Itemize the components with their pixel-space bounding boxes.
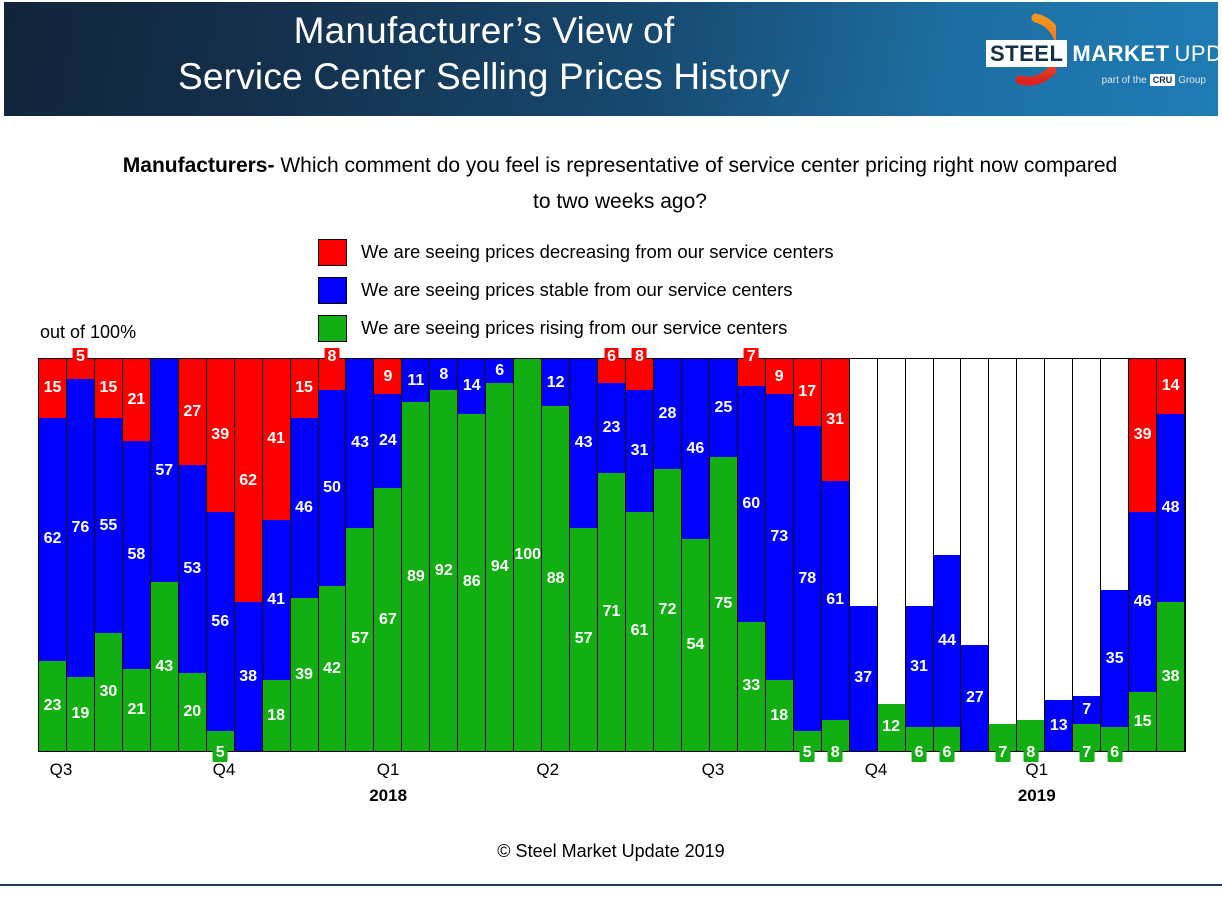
bar-segment-decreasing: 21 [123,359,150,441]
x-axis-quarter-label: Q4 [189,760,259,780]
bar-column: 156223 [38,359,67,751]
bar-segment-value: 57 [575,631,593,647]
bar-column: 694 [485,359,514,751]
bar-segment-rising: 54 [682,539,709,751]
bar-segment-rising: 6 [934,727,961,751]
legend-item-rising: We are seeing prices rising from our ser… [318,309,1078,347]
bar-segment-rising: 20 [179,673,206,751]
bar-segment-value: 7 [995,744,1010,762]
bar-segment-value: 8 [1023,744,1038,762]
bar-segment-decreasing: 6 [598,359,625,383]
bar-segment-value: 6 [1107,744,1122,762]
bar-segment-decreasing: 15 [291,359,318,418]
bar-segment-rising: 42 [319,586,346,751]
bar-segment-value: 41 [267,431,285,447]
logo-sub-prefix: part of the [1102,75,1147,86]
bar-segment-value: 46 [687,441,705,457]
bar-segment-rising: 88 [542,406,569,751]
bar-segment-value: 43 [351,435,369,451]
legend-item-decreasing: We are seeing prices decreasing from our… [318,233,1078,271]
bar-segment-decreasing: 39 [1129,359,1156,512]
bar-segment-value: 55 [99,518,117,534]
bar-segment-rising: 21 [123,669,150,751]
bar-segment-value: 12 [547,375,565,391]
bar-segment-stable: 53 [179,465,206,673]
bar-segment-value: 41 [267,592,285,608]
copyright-text: © Steel Market Update 2019 [0,841,1222,862]
logo-sub-suffix: Group [1178,75,1206,86]
bar-segment-value: 19 [72,706,90,722]
bar-column: 57619 [66,359,95,751]
bar-segment-value: 8 [828,744,843,762]
bar-segment-decreasing: 15 [39,359,66,418]
bar-segment-decreasing: 17 [794,359,821,426]
y-axis-note: out of 100% [40,322,136,343]
bar-segment-value: 6 [912,744,927,762]
bar-segment-value: 50 [323,480,341,496]
bar-column: 4654 [681,359,710,751]
bar-segment-value: 5 [800,744,815,762]
bar-segment-value: 8 [436,366,451,384]
bar-segment-value: 39 [1134,427,1152,443]
bar-segment-rising: 6 [906,727,933,751]
bar-column: 8 [1016,359,1045,751]
bar-segment-value: 48 [1162,500,1180,516]
bar-segment-rising: 7 [989,724,1016,751]
bar-segment-value: 18 [267,708,285,724]
logo-word-steel: STEEL [986,40,1067,67]
bar-segment-value: 38 [1162,669,1180,685]
bar-segment-value: 62 [44,531,62,547]
bar-segment-value: 31 [826,412,844,428]
bar-segment-value: 72 [659,602,677,618]
bar-segment-value: 7 [744,348,759,366]
bar-segment-value: 31 [631,443,649,459]
bar-segment-value: 94 [491,559,509,575]
bar-segment-value: 6 [492,362,507,380]
survey-question: Manufacturers- Which comment do you feel… [120,148,1120,220]
page-title: Manufacturer’s View of Service Center Se… [4,8,964,100]
bar-column: 83161 [625,359,654,751]
logo-subtitle: part of theCRUGroup [1102,74,1206,88]
bar-column: 394615 [1128,359,1157,751]
bar-column: 275320 [178,359,207,751]
bar-segment-stable: 73 [766,394,793,680]
bar-segment-decreasing: 8 [319,359,346,390]
bar-segment-rising: 30 [95,633,122,751]
bar-segment-value: 6 [604,348,619,366]
bar-segment-stable: 27 [961,645,988,751]
bar-column: 6238 [234,359,263,751]
bar-segment-stable: 38 [235,602,262,751]
cru-badge: CRU [1150,74,1176,86]
bar-segment-value: 23 [603,420,621,436]
bar-segment-value: 92 [435,563,453,579]
legend-item-stable: We are seeing prices stable from our ser… [318,271,1078,309]
logo-word-update: UPDATE [1170,41,1218,67]
bar-segment-rising: 57 [346,528,373,751]
bar-segment-decreasing: 5 [67,359,94,379]
bar-segment-stable: 57 [151,359,178,582]
bar-segment-value: 37 [854,670,872,686]
bar-segment-stable: 76 [67,379,94,677]
logo-word-market: MARKET [1067,41,1169,67]
x-axis-year-label: 2018 [353,786,423,806]
bar-segment-value: 13 [1050,718,1068,734]
bar-segment-rising: 39 [291,598,318,751]
bar-segment-value: 5 [73,348,88,366]
bar-segment-rising: 75 [710,457,737,751]
bar-column: 7 [988,359,1017,751]
question-lead: Manufacturers- [123,154,275,177]
bar-segment-stable: 6 [486,359,513,383]
legend-label-stable: We are seeing prices stable from our ser… [347,279,793,301]
logo-wordmark: STEELMARKETUPDATE [986,40,1210,70]
bar-segment-value: 9 [775,369,784,385]
x-axis-quarter-label: Q2 [513,760,583,780]
bar-column: 144838 [1156,359,1185,751]
bar-segment-rising: 67 [374,488,401,751]
bar-segment-value: 61 [826,592,844,608]
bar-segment-value: 100 [514,547,541,563]
bar-column: 446 [933,359,962,751]
bar-segment-value: 88 [547,571,565,587]
x-axis-year-label: 2019 [1002,786,1072,806]
bar-column: 37 [849,359,878,751]
bar-segment-stable: 31 [906,606,933,728]
bar-segment-stable: 8 [430,359,457,390]
bar-segment-value: 31 [910,659,928,675]
bar-segment-stable: 12 [542,359,569,406]
bar-segment-decreasing: 27 [179,359,206,465]
legend-swatch-rising [318,315,347,342]
bar-column: 316 [905,359,934,751]
bar-segment-value: 61 [631,623,649,639]
page-title-line2: Service Center Selling Prices History [4,54,964,100]
bar-segment-rising: 18 [263,680,290,751]
bar-segment-value: 75 [714,596,732,612]
bar-column: 12 [877,359,906,751]
legend-swatch-decreasing [318,239,347,266]
bar-segment-rising: 33 [738,622,765,751]
bar-segment-value: 15 [44,380,62,396]
bar-segment-value: 11 [407,373,424,389]
bar-segment-value: 39 [295,667,313,683]
bar-segment-value: 54 [687,637,705,653]
bar-column: 77 [1072,359,1101,751]
bar-segment-stable: 50 [319,390,346,586]
x-axis-quarter-label: Q3 [26,760,96,780]
bar-segment-rising: 23 [39,661,66,751]
bar-segment-value: 17 [798,384,816,400]
bar-segment-stable: 37 [850,606,877,751]
bar-segment-value: 15 [99,380,117,396]
bar-segment-rising: 94 [486,383,513,751]
bar-segment-stable: 46 [1129,512,1156,692]
bar-segment-rising: 43 [151,582,178,751]
bar-segment-rising: 8 [1017,720,1044,751]
bar-segment-rising: 5 [794,731,821,751]
bar-segment-decreasing: 31 [822,359,849,481]
bar-segment-stable: 14 [458,359,485,414]
bar-segment-rising: 89 [402,402,429,751]
bar-column: 4357 [569,359,598,751]
bar-column: 155530 [94,359,123,751]
legend-swatch-stable [318,277,347,304]
page-title-line1: Manufacturer’s View of [294,10,675,51]
bar-segment-stable: 43 [346,359,373,528]
x-axis-quarter-label: Q4 [841,760,911,780]
bar-column: 892 [429,359,458,751]
chart-legend: We are seeing prices decreasing from our… [318,233,1078,347]
bar-segment-stable: 44 [934,555,961,727]
bar-segment-value: 35 [1106,651,1124,667]
bar-segment-value: 58 [127,547,145,563]
bar-segment-stable: 35 [1101,590,1128,727]
bar-column: 97318 [765,359,794,751]
bar-column: 31618 [821,359,850,751]
bar-segment-value: 46 [1134,594,1152,610]
bar-segment-value: 20 [183,704,201,720]
bar-segment-decreasing: 7 [738,359,765,386]
bar-segment-value: 42 [323,661,341,677]
bar-segment-decreasing: 39 [207,359,234,512]
bar-segment-value: 7 [1079,701,1094,719]
bar-segment-value: 44 [938,633,956,649]
bar-column: 100 [513,359,542,751]
bar-segment-value: 71 [603,604,621,620]
bar-segment-value: 67 [379,612,397,628]
bar-segment-value: 25 [714,400,732,416]
x-axis-quarter-label: Q3 [678,760,748,780]
bar-segment-value: 12 [882,719,900,735]
bar-segment-decreasing: 14 [1157,359,1184,414]
bar-segment-stable: 58 [123,441,150,668]
bar-column: 92467 [373,359,402,751]
bar-segment-rising: 71 [598,473,625,751]
bar-segment-stable: 41 [263,520,290,681]
bar-segment-value: 6 [940,744,955,762]
bar-segment-stable: 23 [598,383,625,473]
bar-segment-value: 43 [575,435,593,451]
bar-segment-value: 21 [127,702,145,718]
bar-segment-value: 21 [127,392,145,408]
x-axis-quarter-label: Q1 [353,760,423,780]
bar-segment-value: 62 [239,473,257,489]
bar-segment-value: 89 [407,569,425,585]
header-banner: Manufacturer’s View of Service Center Se… [4,2,1218,116]
bar-segment-stable: 78 [794,426,821,732]
bar-segment-stable: 25 [710,359,737,457]
bar-segment-stable: 55 [95,418,122,634]
bar-column: 76033 [737,359,766,751]
bar-segment-value: 9 [383,369,392,385]
bar-column: 154639 [290,359,319,751]
bar-segment-value: 15 [1134,714,1152,730]
bar-segment-value: 57 [351,631,369,647]
bar-segment-value: 86 [463,574,481,590]
bar-segment-rising: 57 [570,528,597,751]
bar-segment-value: 38 [239,669,257,685]
bar-segment-stable: 60 [738,386,765,621]
bar-segment-stable: 62 [39,418,66,661]
bar-segment-value: 60 [742,496,760,512]
bar-segment-value: 28 [659,406,677,422]
question-rest: Which comment do you feel is representat… [274,154,1117,213]
x-axis-labels: Q3Q4Q12018Q2Q3Q4Q12019 [38,756,1186,816]
bar-segment-rising: 72 [654,469,681,751]
bar-segment-value: 33 [742,678,760,694]
bar-segment-rising: 38 [1157,602,1184,751]
bar-segment-value: 14 [463,378,481,394]
bar-segment-value: 76 [72,520,90,536]
bar-segment-rising: 8 [822,720,849,751]
bar-segment-value: 53 [183,561,201,577]
bar-segment-rising: 86 [458,414,485,751]
legend-label-decreasing: We are seeing prices decreasing from our… [347,241,834,263]
bar-column: 85042 [318,359,347,751]
bar-segment-rising: 12 [878,704,905,751]
bar-column: 1486 [457,359,486,751]
bar-segment-stable: 46 [291,418,318,598]
bar-segment-decreasing: 9 [766,359,793,394]
bar-column: 39565 [206,359,235,751]
bar-segment-stable: 28 [654,359,681,469]
bar-column: 17785 [793,359,822,751]
bar-segment-rising: 92 [430,390,457,751]
bar-segment-decreasing: 8 [626,359,653,390]
bar-column: 1288 [541,359,570,751]
legend-label-rising: We are seeing prices rising from our ser… [347,317,787,339]
bar-segment-rising: 15 [1129,692,1156,751]
bar-segment-stable: 43 [570,359,597,528]
bar-segment-value: 8 [632,348,647,366]
bar-segment-value: 7 [1079,744,1094,762]
bar-segment-rising: 18 [766,680,793,751]
bar-segment-stable: 11 [402,359,429,402]
bar-segment-rising: 100 [514,359,541,751]
bar-segment-stable: 48 [1157,414,1184,602]
bar-column: 2872 [653,359,682,751]
bar-segment-rising: 7 [1073,724,1100,751]
bar-segment-value: 57 [155,463,173,479]
bar-column: 4357 [345,359,374,751]
bar-column: 414118 [262,359,291,751]
bar-column: 215821 [122,359,151,751]
steel-market-update-logo: STEELMARKETUPDATE part of theCRUGroup [974,8,1210,110]
bar-segment-decreasing: 15 [95,359,122,418]
bar-segment-decreasing: 62 [235,359,262,602]
bar-segment-value: 5 [213,744,228,762]
footer-divider [0,884,1222,886]
slide-root: Manufacturer’s View of Service Center Se… [0,0,1222,899]
bar-segment-value: 56 [211,614,229,630]
bar-segment-stable: 61 [822,481,849,720]
bar-column: 5743 [150,359,179,751]
bar-segment-value: 14 [1162,378,1180,394]
bar-segment-value: 39 [211,427,229,443]
bar-segment-value: 43 [155,659,173,675]
bar-segment-rising: 19 [67,677,94,751]
x-axis-quarter-label: Q1 [1002,760,1072,780]
bar-column: 2575 [709,359,738,751]
bar-segment-value: 73 [770,529,788,545]
bar-column: 1189 [401,359,430,751]
bar-segment-value: 8 [325,348,340,366]
bar-segment-rising: 5 [207,731,234,751]
bar-segment-stable: 24 [374,394,401,488]
bar-segment-value: 27 [966,690,984,706]
bar-segment-stable: 31 [626,390,653,512]
bar-segment-decreasing: 41 [263,359,290,520]
bar-segment-value: 30 [99,684,117,700]
bar-segment-rising: 61 [626,512,653,751]
bar-segment-value: 46 [295,500,313,516]
bar-column: 27 [960,359,989,751]
bar-segment-rising: 6 [1101,727,1128,751]
bar-segment-value: 27 [183,404,201,420]
bar-segment-value: 24 [379,433,397,449]
stacked-bar-chart-plot: 1562235761915553021582157432753203956562… [38,358,1186,752]
bar-segment-stable: 13 [1045,700,1072,751]
bar-column: 356 [1100,359,1129,751]
bar-segment-stable: 46 [682,359,709,539]
bar-segment-value: 78 [798,571,816,587]
bar-segment-decreasing: 9 [374,359,401,394]
bar-column: 13 [1044,359,1073,751]
bar-segment-stable: 7 [1073,696,1100,723]
bar-segment-value: 15 [295,380,313,396]
bar-segment-value: 23 [44,698,62,714]
bar-segment-value: 18 [770,708,788,724]
bar-segment-stable: 56 [207,512,234,732]
bar-column: 62371 [597,359,626,751]
